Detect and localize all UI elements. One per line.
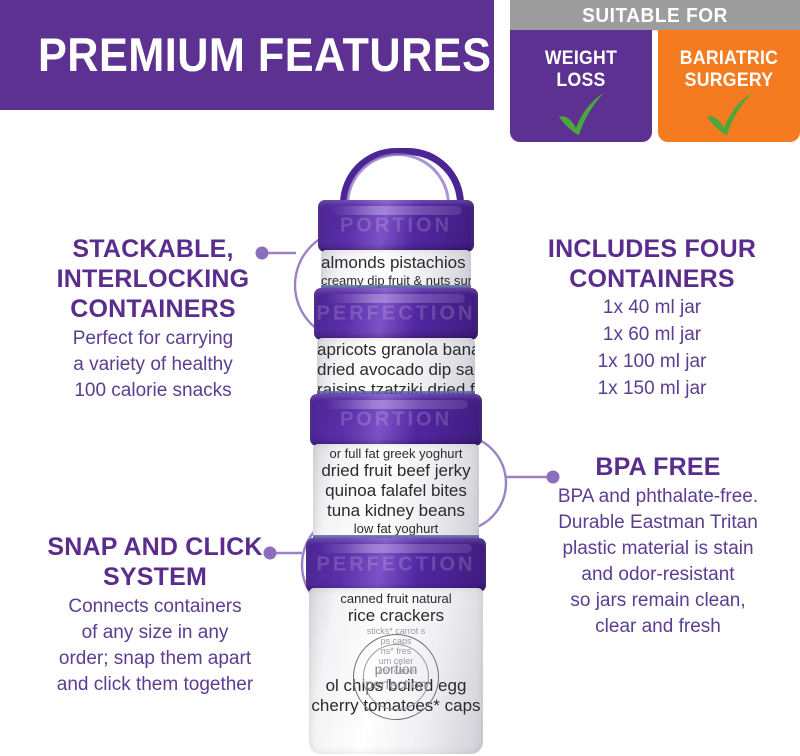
page-title: PREMIUM FEATURES	[38, 26, 491, 84]
jar-body-2: apricots granola banana chips dried avoc…	[317, 338, 475, 400]
badge-weight-loss: WEIGHT LOSS	[510, 30, 652, 142]
feature-snap-body: Connects containers of any size in any o…	[14, 594, 296, 698]
jar-3-word-line: dried fruit beef jerky	[313, 461, 479, 481]
lid-emboss-text: PORTION	[310, 409, 482, 432]
jar-size-item: 1x 60 ml jar	[603, 324, 701, 345]
jar-body-4: canned fruit natural rice crackers stick…	[309, 588, 483, 754]
badge-columns: WEIGHT LOSS BARIATRIC SURGERY	[510, 30, 800, 142]
feature-stackable-body: Perfect for carrying a variety of health…	[20, 326, 286, 404]
feature-bpa-body-line2: Durable Eastman Tritan	[558, 512, 758, 533]
feature-snap-body-line3: order; snap them apart	[59, 648, 251, 669]
suitable-for-badge: SUITABLE FOR WEIGHT LOSS BARIATRIC SURGE…	[510, 0, 800, 142]
product-stack-image: PORTION almonds pistachios Greek creamy …	[296, 148, 496, 756]
feature-stackable-heading-line2: INTERLOCKING	[57, 265, 250, 293]
badge-bariatric-line1: BARIATRIC	[680, 48, 778, 69]
feature-bpa-body-line6: clear and fresh	[595, 616, 721, 637]
feature-stackable-heading-line1: STACKABLE,	[72, 235, 233, 263]
badge-weight-loss-label: WEIGHT LOSS	[515, 48, 647, 92]
feature-includes-heading: INCLUDES FOUR CONTAINERS	[508, 234, 796, 294]
jar-4-word-line: rice crackers	[309, 606, 483, 626]
badge-bariatric-line2: SURGERY	[685, 70, 774, 91]
jar-3-words: or full fat greek yoghurt dried fruit be…	[313, 444, 479, 544]
lid-emboss-text: PERFECTION	[314, 303, 478, 326]
check-icon	[553, 90, 609, 138]
jar-3-word-line: or full fat greek yoghurt	[313, 446, 479, 461]
jar-3-word-line: quinoa falafel bites	[313, 481, 479, 501]
feature-snap-and-click: SNAP AND CLICK SYSTEM Connects container…	[14, 532, 296, 698]
feature-bpa-body-line1: BPA and phthalate-free.	[558, 486, 758, 507]
badge-banner-label: SUITABLE FOR	[517, 5, 793, 28]
jar-3-word-line: low fat yoghurt	[313, 521, 479, 536]
badge-weight-loss-line1: WEIGHT	[545, 48, 617, 69]
feature-includes-heading-line1: INCLUDES FOUR	[548, 235, 756, 263]
feature-bpa-body-line4: and odor-resistant	[581, 564, 734, 585]
jar-lid-2: PERFECTION	[314, 288, 478, 340]
jar-lid-4: PERFECTION	[306, 538, 486, 592]
feature-includes-heading-line2: CONTAINERS	[569, 265, 734, 293]
brand-logo-inner-ring	[363, 644, 429, 710]
jar-lid-3: PORTION	[310, 394, 482, 446]
feature-snap-body-line1: Connects containers	[68, 596, 241, 617]
feature-stackable-body-line2: a variety of healthy	[73, 354, 232, 375]
badge-bariatric-surgery-label: BARIATRIC SURGERY	[663, 48, 795, 92]
feature-snap-heading-line1: SNAP AND CLICK	[47, 533, 262, 561]
feature-bpa-body-line5: so jars remain clean,	[570, 590, 745, 611]
brand-logo: portion perfection	[353, 634, 439, 720]
infographic-canvas: PREMIUM FEATURES SUITABLE FOR WEIGHT LOS…	[0, 0, 800, 756]
feature-snap-heading-line2: SYSTEM	[103, 563, 207, 591]
jar-size-item: 1x 100 ml jar	[598, 351, 707, 372]
feature-stackable-body-line3: 100 calorie snacks	[74, 380, 231, 401]
feature-stackable-heading: STACKABLE, INTERLOCKING CONTAINERS	[20, 234, 286, 324]
feature-includes: INCLUDES FOUR CONTAINERS 1x 40 ml jar 1x…	[508, 234, 796, 402]
feature-stackable-heading-line3: CONTAINERS	[70, 295, 235, 323]
lid-emboss-text: PORTION	[318, 215, 474, 238]
jar-lid-1: PORTION	[318, 200, 474, 252]
jar-2-word-line: apricots granola banana chips	[317, 340, 475, 360]
feature-bpa-body-line3: plastic material is stain	[562, 538, 753, 559]
feature-bpa-body: BPA and phthalate-free. Durable Eastman …	[520, 484, 796, 640]
jar-2-word-line: dried avocado dip salsa	[317, 360, 475, 380]
jar-4-word-line: canned fruit natural	[309, 591, 483, 606]
badge-weight-loss-line2: LOSS	[556, 70, 605, 91]
jar-size-item: 1x 40 ml jar	[603, 297, 701, 318]
lid-gloss	[320, 544, 471, 553]
lid-emboss-text: PERFECTION	[306, 554, 486, 577]
feature-snap-body-line2: of any size in any	[82, 622, 229, 643]
badge-bariatric-surgery: BARIATRIC SURGERY	[658, 30, 800, 142]
feature-includes-list: 1x 40 ml jar 1x 60 ml jar 1x 100 ml jar …	[508, 294, 796, 402]
feature-snap-body-line4: and click them together	[57, 674, 253, 695]
jar-3-word-line: tuna kidney beans	[313, 501, 479, 521]
jar-1-word-line: almonds pistachios Greek	[321, 253, 471, 273]
jar-size-item: 1x 150 ml jar	[598, 378, 707, 399]
feature-stackable: STACKABLE, INTERLOCKING CONTAINERS Perfe…	[20, 234, 286, 404]
feature-snap-heading: SNAP AND CLICK SYSTEM	[14, 532, 296, 592]
feature-bpa-heading: BPA FREE	[520, 452, 796, 482]
feature-bpa-free: BPA FREE BPA and phthalate-free. Durable…	[520, 452, 796, 640]
feature-stackable-body-line1: Perfect for carrying	[73, 328, 234, 349]
check-icon	[701, 90, 757, 138]
jar-body-3: or full fat greek yoghurt dried fruit be…	[313, 444, 479, 544]
